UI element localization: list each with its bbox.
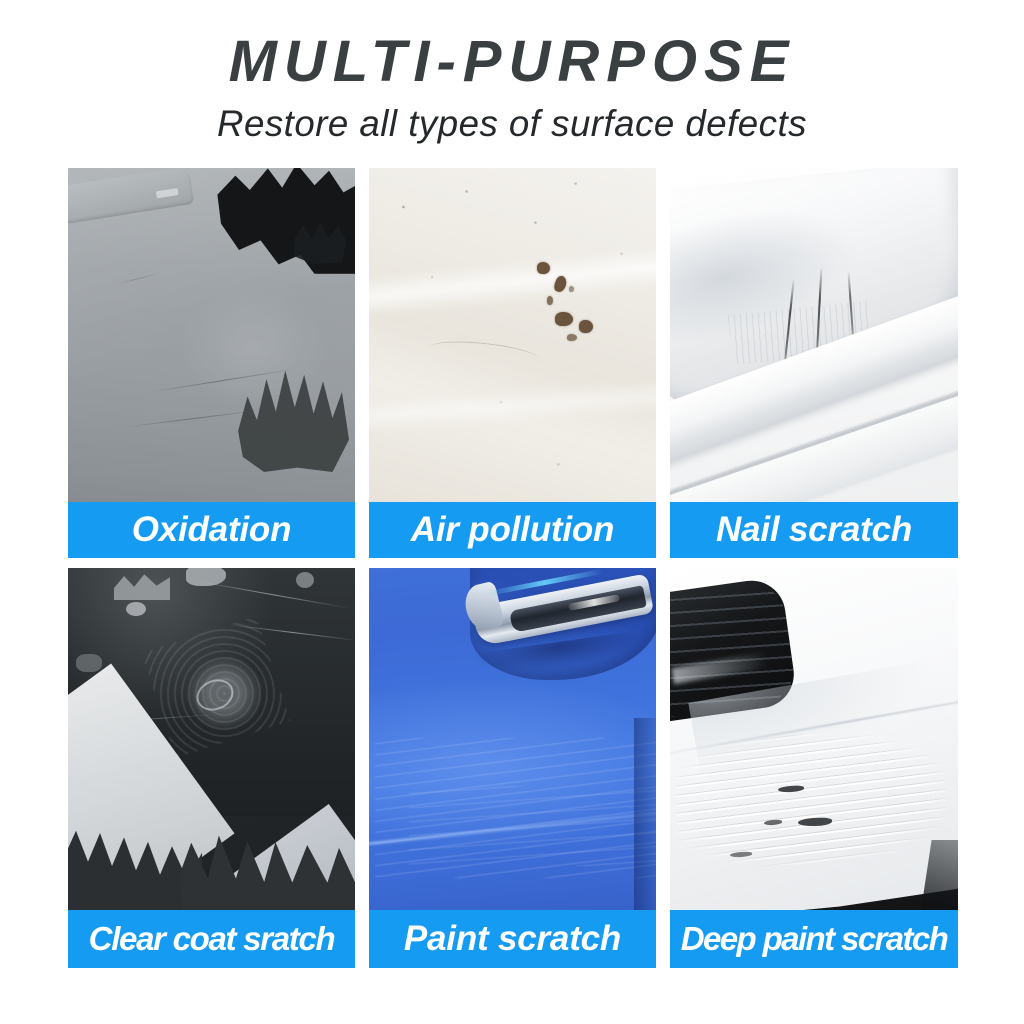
caption-nail-scratch: Nail scratch — [670, 502, 958, 558]
gallery-cell-clear-coat-scratch[interactable]: Clear coat sratch — [68, 568, 355, 968]
paint-scratch-photo — [369, 568, 656, 968]
gallery-cell-deep-paint-scratch[interactable]: Deep paint scratch — [670, 568, 958, 968]
caption-deep-paint-scratch: Deep paint scratch — [670, 910, 958, 968]
caption-clear-coat-scratch: Clear coat sratch — [68, 910, 355, 968]
gallery-cell-paint-scratch[interactable]: Paint scratch — [369, 568, 656, 968]
header: MULTI-PURPOSE Restore all types of surfa… — [0, 0, 1024, 145]
air-pollution-photo — [369, 168, 656, 558]
clear-coat-scratch-photo — [68, 568, 355, 968]
pollution-spot — [579, 320, 593, 333]
caption-air-pollution: Air pollution — [369, 502, 656, 558]
deep-scuff-marks — [673, 727, 949, 871]
caption-oxidation: Oxidation — [68, 502, 355, 558]
wiper-arm-shape — [68, 168, 194, 224]
sky-reflection — [296, 572, 314, 588]
caption-paint-scratch: Paint scratch — [369, 910, 656, 968]
product-feature-page: MULTI-PURPOSE Restore all types of surfa… — [0, 0, 1024, 1024]
defect-gallery-grid: Oxidation Air pollution — [68, 168, 958, 968]
sky-reflection — [76, 654, 102, 672]
pollution-spot — [547, 296, 553, 305]
pollution-spot — [567, 334, 577, 341]
gallery-cell-oxidation[interactable]: Oxidation — [68, 168, 355, 558]
oxidation-photo — [68, 168, 355, 558]
page-title: MULTI-PURPOSE — [0, 0, 1024, 93]
scratch-line — [117, 272, 162, 284]
pollution-spot — [537, 262, 550, 274]
deep-paint-scratch-photo — [670, 568, 958, 968]
pollution-spot — [569, 286, 574, 292]
sky-reflection — [126, 602, 146, 616]
gallery-cell-air-pollution[interactable]: Air pollution — [369, 168, 656, 558]
gallery-cell-nail-scratch[interactable]: Nail scratch — [670, 168, 958, 558]
pollution-spot — [555, 312, 573, 326]
page-subtitle: Restore all types of surface defects — [5, 93, 1019, 145]
nail-scratch-photo — [670, 168, 958, 558]
